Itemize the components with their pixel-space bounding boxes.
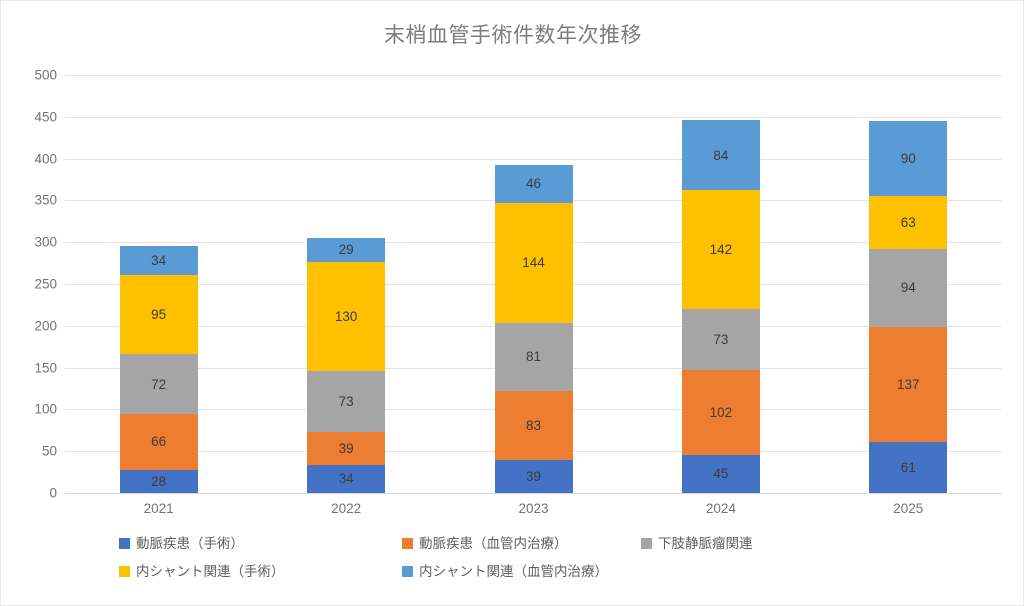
bar-segment[interactable]: 95 [120, 275, 198, 354]
y-axis-tick-label: 450 [1, 109, 57, 124]
legend-item[interactable]: 内シャント関連（手術） [119, 565, 285, 579]
bar-group-2025[interactable]: 90639413761 [869, 121, 947, 493]
bar-segment[interactable]: 34 [120, 246, 198, 274]
y-axis-tick-label: 250 [1, 277, 57, 292]
bar-value-label: 66 [151, 435, 166, 449]
bar-value-label: 142 [710, 243, 733, 257]
legend-label: 内シャント関連（手術） [136, 565, 285, 579]
bar-segment[interactable]: 94 [869, 249, 947, 328]
bar-value-label: 95 [151, 308, 166, 322]
y-axis-tick-label: 200 [1, 318, 57, 333]
bar-group-2021[interactable]: 3495726628 [120, 246, 198, 493]
bar-value-label: 34 [339, 472, 354, 486]
bar-segment[interactable]: 63 [869, 196, 947, 249]
x-axis-tick-label: 2023 [474, 501, 594, 516]
legend-label: 動脈疾患（手術） [136, 537, 244, 551]
bar-value-label: 72 [151, 378, 166, 392]
bar-group-2024[interactable]: 841427310245 [682, 120, 760, 493]
y-axis-tick-label: 100 [1, 402, 57, 417]
bar-segment[interactable]: 29 [307, 238, 385, 262]
bar-segment[interactable]: 142 [682, 190, 760, 309]
bar-value-label: 102 [710, 406, 733, 420]
y-axis-tick-label: 350 [1, 193, 57, 208]
bar-value-label: 29 [339, 243, 354, 257]
x-axis: 20212022202320242025 [65, 501, 1002, 525]
bar-value-label: 81 [526, 350, 541, 364]
bar-value-label: 84 [713, 149, 728, 163]
y-axis-tick-label: 300 [1, 235, 57, 250]
y-axis-tick-label: 50 [1, 444, 57, 459]
bar-value-label: 39 [339, 442, 354, 456]
bar-value-label: 63 [901, 216, 916, 230]
y-axis: 050100150200250300350400450500 [1, 75, 57, 493]
y-axis-tick-label: 150 [1, 360, 57, 375]
bar-segment[interactable]: 102 [682, 370, 760, 455]
bar-value-label: 45 [713, 467, 728, 481]
bar-segment[interactable]: 73 [682, 309, 760, 370]
bar-value-label: 34 [151, 254, 166, 268]
x-axis-tick-label: 2025 [848, 501, 968, 516]
legend-item[interactable]: 内シャント関連（血管内治療） [402, 565, 608, 579]
chart-legend: 動脈疾患（手術）動脈疾患（血管内治療）下肢静脈瘤関連内シャント関連（手術）内シャ… [119, 537, 909, 593]
bar-group-2023[interactable]: 46144818339 [495, 165, 573, 494]
bar-value-label: 73 [713, 333, 728, 347]
bar-segment[interactable]: 130 [307, 262, 385, 371]
bar-value-label: 73 [339, 395, 354, 409]
legend-swatch-icon [641, 538, 652, 549]
bar-segment[interactable]: 39 [495, 460, 573, 493]
bar-segment[interactable]: 90 [869, 121, 947, 196]
legend-swatch-icon [402, 566, 413, 577]
legend-label: 動脈疾患（血管内治療） [419, 537, 568, 551]
bar-value-label: 144 [522, 256, 545, 270]
legend-swatch-icon [119, 566, 130, 577]
bar-value-label: 39 [526, 470, 541, 484]
y-axis-tick-label: 400 [1, 151, 57, 166]
bar-segment[interactable]: 45 [682, 455, 760, 493]
bar-segment[interactable]: 83 [495, 391, 573, 460]
bar-value-label: 83 [526, 419, 541, 433]
legend-swatch-icon [119, 538, 130, 549]
bar-value-label: 61 [901, 461, 916, 475]
chart-container: 末梢血管手術件数年次推移 050100150200250300350400450… [0, 0, 1024, 606]
bar-group-2022[interactable]: 29130733934 [307, 238, 385, 493]
bar-value-label: 137 [897, 378, 920, 392]
bars-layer: 3495726628291307339344614481833984142731… [65, 75, 1002, 493]
bar-value-label: 94 [901, 281, 916, 295]
legend-label: 内シャント関連（血管内治療） [419, 565, 608, 579]
bar-segment[interactable]: 144 [495, 203, 573, 323]
bar-segment[interactable]: 73 [307, 371, 385, 432]
x-axis-tick-label: 2021 [99, 501, 219, 516]
bar-segment[interactable]: 72 [120, 354, 198, 414]
legend-swatch-icon [402, 538, 413, 549]
bar-segment[interactable]: 61 [869, 442, 947, 493]
chart-title: 末梢血管手術件数年次推移 [1, 19, 1024, 49]
y-axis-tick-label: 0 [1, 486, 57, 501]
legend-label: 下肢静脈瘤関連 [658, 537, 753, 551]
bar-segment[interactable]: 84 [682, 120, 760, 190]
y-axis-tick-label: 500 [1, 68, 57, 83]
x-axis-tick-label: 2024 [661, 501, 781, 516]
bar-segment[interactable]: 46 [495, 165, 573, 203]
bar-segment[interactable]: 39 [307, 432, 385, 465]
legend-item[interactable]: 動脈疾患（血管内治療） [402, 537, 568, 551]
bar-value-label: 46 [526, 177, 541, 191]
bar-segment[interactable]: 81 [495, 323, 573, 391]
bar-segment[interactable]: 137 [869, 327, 947, 442]
bar-segment[interactable]: 66 [120, 414, 198, 469]
bar-value-label: 28 [151, 475, 166, 489]
bar-segment[interactable]: 34 [307, 465, 385, 493]
bar-segment[interactable]: 28 [120, 470, 198, 493]
bar-value-label: 130 [335, 310, 358, 324]
x-axis-tick-label: 2022 [286, 501, 406, 516]
gridline [65, 493, 1002, 494]
legend-item[interactable]: 下肢静脈瘤関連 [641, 537, 753, 551]
legend-item[interactable]: 動脈疾患（手術） [119, 537, 244, 551]
bar-value-label: 90 [901, 152, 916, 166]
